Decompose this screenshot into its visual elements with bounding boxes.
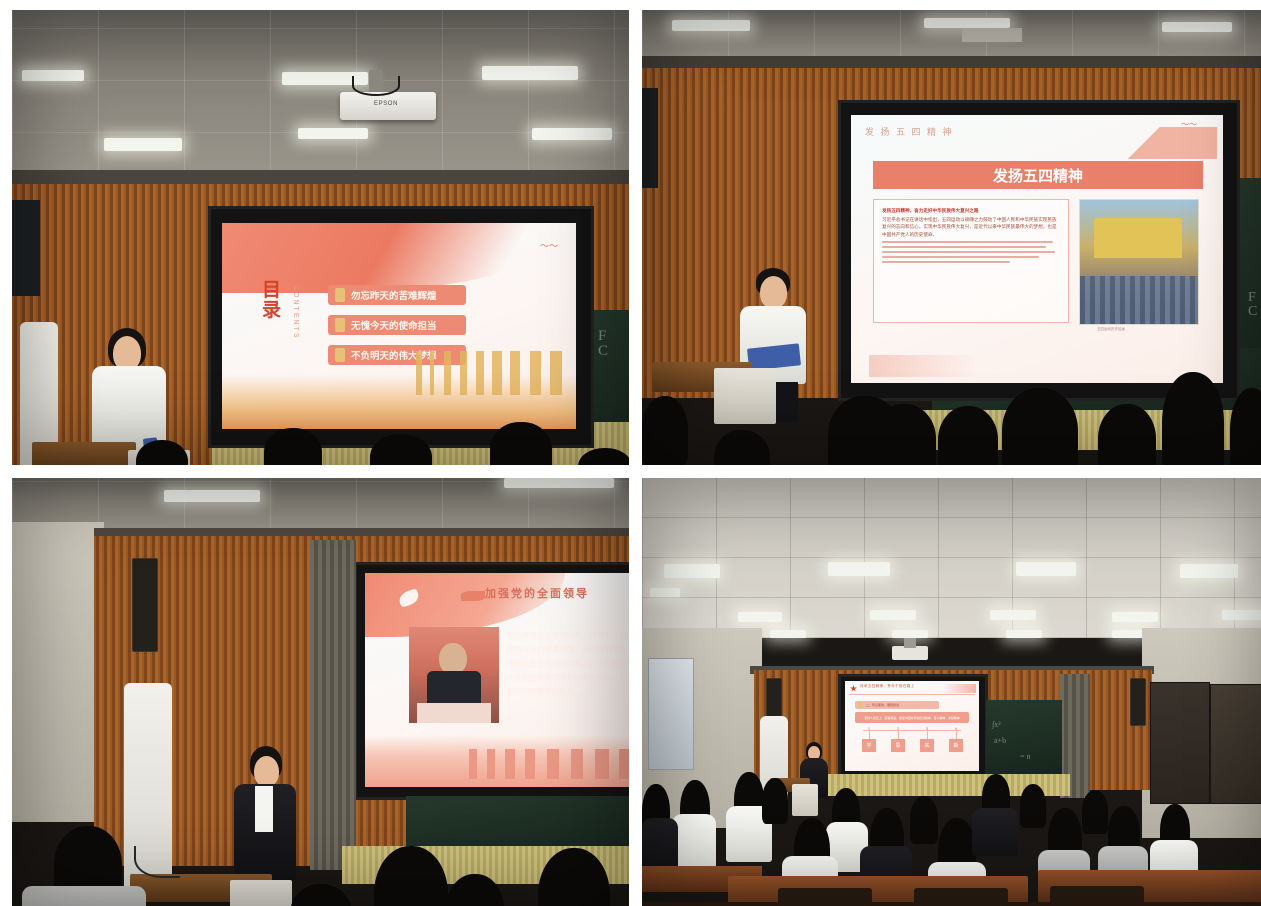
step-card: 实	[920, 739, 934, 752]
illustration-building	[1094, 218, 1182, 258]
wall-top-trim	[12, 170, 629, 184]
item-badge-icon	[335, 348, 345, 362]
slide-city-silhouette	[461, 749, 629, 779]
slide-header-rule	[849, 694, 975, 695]
slide-birds-icon: 〜〜	[1181, 119, 1197, 130]
slide-youth-mission: 传承五四精神，青年干部在路上 二、牢记使命，展现担当 坚持人民至上、实事求是，展…	[845, 681, 979, 771]
ceiling-light	[532, 128, 612, 140]
slide-party-leadership: 加强党的全面领导 党的领导方式更加科学，领导力、组织力号召力显著增强，始终成为中…	[365, 573, 629, 787]
ceiling-equipment-box	[962, 28, 1022, 42]
slide-title-text: 加强党的全面领导	[485, 585, 589, 601]
ceiling-light	[770, 630, 806, 638]
slide-body-paragraph: 习近平总书记在讲话中指出，五四运动以磅礴之力鼓动了中国人民和中华民族实现民族复兴…	[882, 216, 1060, 238]
ceiling-light	[482, 66, 578, 80]
chalk-writing: C	[598, 343, 608, 360]
step-label: 思	[895, 742, 900, 749]
slide-step[interactable]: 3 实	[919, 726, 935, 754]
audience-head	[1002, 388, 1078, 465]
step-card: 思	[891, 739, 905, 752]
portrait-podium	[417, 703, 491, 723]
projection-screen[interactable]: 加强党的全面领导 党的领导方式更加科学，领导力、组织力号召力显著增强，始终成为中…	[365, 573, 629, 787]
photo-panel-bottom-right[interactable]: Wide-angle view of full classroom with s…	[642, 478, 1261, 906]
ceiling-light	[104, 138, 182, 151]
projector-cable	[352, 76, 400, 96]
ceiling-light	[164, 490, 260, 502]
lectern[interactable]	[32, 442, 136, 465]
slide-step[interactable]: 2 思	[890, 726, 906, 754]
slide-menu-item[interactable]: 无愧今天的使命担当	[328, 315, 466, 335]
audience-body	[972, 808, 1018, 856]
slide-birds-icon: 〜〜	[540, 239, 558, 252]
lectern-computer-cabinet[interactable]	[714, 368, 776, 424]
audience-head	[1098, 404, 1156, 465]
slide-heading-en: CONTENTS	[288, 285, 299, 340]
ceiling-light	[990, 610, 1036, 620]
portrait-suit	[427, 671, 481, 705]
step-number: 3	[919, 726, 935, 731]
step-number: 1	[861, 726, 877, 731]
text-line	[882, 256, 1039, 258]
text-line	[882, 241, 1053, 243]
chair-back	[1050, 886, 1144, 904]
chair-back	[778, 888, 872, 906]
slide-mountain-decoration	[1087, 127, 1217, 159]
slide-banner: 坚持人民至上、实事求是，展现中国青年的担当精神、奋斗精神、奉献精神	[855, 712, 969, 723]
audience-head	[714, 430, 770, 465]
lectern-computer-cabinet[interactable]	[792, 784, 818, 816]
step-number: 2	[890, 726, 906, 731]
ceiling-light	[828, 562, 890, 576]
step-arrow-icon	[956, 731, 957, 739]
step-arrow-icon	[927, 731, 928, 739]
audience-head	[1020, 784, 1046, 828]
ceiling-light	[1222, 610, 1261, 620]
step-card: 学	[862, 739, 876, 752]
subtitle-badge-icon	[858, 702, 863, 708]
plaster-wall	[12, 522, 104, 822]
step-card: 新	[949, 739, 963, 752]
projector-brand-label: EPSON	[374, 101, 398, 107]
slide-title-bar: 发扬五四精神	[873, 161, 1203, 189]
slide-image-caption: 五四运动历史绘画	[1097, 327, 1125, 332]
audience-head	[1162, 372, 1224, 465]
door[interactable]	[1150, 682, 1210, 804]
photo-panel-bottom-left[interactable]: Female student in black blazer presentin…	[12, 478, 629, 906]
slide-heading-cn: 目录	[262, 281, 284, 321]
chalkboard: ∫x² a+b = n	[986, 700, 1062, 778]
projector-body: EPSON	[340, 92, 436, 120]
ceiling-light	[892, 630, 928, 638]
slide-step[interactable]: 4 新	[948, 726, 964, 754]
slide-contents: 〜〜 目录 CONTENTS 勿忘昨天的苦难辉煌 无愧今天的使命担当 不负明天的…	[222, 223, 576, 429]
slide-illustration	[1079, 199, 1199, 325]
step-connector-line	[863, 730, 961, 731]
slide-title-ribbon	[461, 591, 485, 601]
projection-screen[interactable]: 发 扬 五 四 精 神 〜〜 发扬五四精神 发扬五四精神，奋力走好中华民族伟大复…	[851, 115, 1223, 383]
slide-body-lead: 发扬五四精神，奋力走好中华民族伟大复兴之路	[882, 207, 1060, 214]
ceiling-tile-grid	[12, 10, 629, 185]
step-arrow-icon	[869, 731, 870, 739]
ceiling-light	[298, 128, 368, 139]
audience-body	[22, 886, 146, 906]
step-number: 4	[948, 726, 964, 731]
text-line	[882, 251, 1055, 253]
step-label: 学	[866, 742, 871, 749]
chalk-writing: ∫x²	[992, 720, 1001, 729]
slide-portrait-photo	[409, 627, 499, 723]
slide-menu-item[interactable]: 勿忘昨天的苦难辉煌	[328, 285, 466, 305]
item-badge-icon	[335, 318, 345, 332]
step-label: 新	[953, 742, 958, 749]
ceiling-tile-grid	[642, 478, 1261, 638]
projector-mount	[904, 638, 916, 648]
audience-head	[1082, 790, 1108, 834]
step-arrow-icon	[898, 731, 899, 739]
photo-panel-top-left[interactable]: Female student presenting at lectern, co…	[12, 10, 629, 465]
ceiling-light	[1006, 630, 1042, 638]
step-label: 实	[924, 742, 929, 749]
ceiling-light	[1180, 564, 1238, 578]
projection-board-frame[interactable]: 传承五四精神，青年干部在路上 二、牢记使命，展现担当 坚持人民至上、实事求是，展…	[838, 674, 988, 780]
projection-screen[interactable]: 传承五四精神，青年干部在路上 二、牢记使命，展现担当 坚持人民至上、实事求是，展…	[845, 681, 979, 771]
window-left	[648, 658, 694, 770]
ceiling-light	[738, 612, 782, 622]
slide-footer-decoration	[869, 355, 979, 377]
slide-body-text-block: 发扬五四精神，奋力走好中华民族伟大复兴之路 习近平总书记在讲话中指出，五四运动以…	[873, 199, 1069, 323]
audience-body	[642, 818, 678, 870]
audience-head	[762, 778, 788, 824]
ceiling	[12, 10, 629, 185]
slide-title-text: 发扬五四精神	[993, 165, 1083, 186]
slide-subtitle-text: 二、牢记使命，展现担当	[866, 703, 899, 707]
window-dark	[642, 88, 658, 188]
illustration-crowd	[1080, 276, 1198, 324]
presenter-head	[254, 756, 279, 787]
window-dark	[12, 200, 40, 296]
window-curtain	[310, 540, 356, 870]
chalk-writing: C	[1248, 304, 1257, 320]
ceiling-light	[22, 70, 84, 81]
audience-head	[490, 422, 552, 465]
projection-board-frame[interactable]: 发 扬 五 四 精 神 〜〜 发扬五四精神 发扬五四精神，奋力走好中华民族伟大复…	[838, 100, 1240, 401]
ceiling-light	[504, 478, 614, 488]
slide-menu-item-label: 无愧今天的使命担当	[351, 318, 437, 332]
slide-header-text: 传承五四精神，青年干部在路上	[860, 684, 915, 689]
presenter-head	[760, 276, 787, 309]
item-badge-icon	[335, 288, 345, 302]
ceiling	[642, 478, 1261, 638]
slide-menu-item-label: 勿忘昨天的苦难辉煌	[351, 288, 437, 302]
audience-head	[642, 396, 688, 465]
slide-subtitle-bar: 二、牢记使命，展现担当	[855, 701, 939, 709]
ceiling-light	[1016, 562, 1076, 576]
slide-banner-text: 坚持人民至上、实事求是，展现中国青年的担当精神、奋斗精神、奉献精神	[864, 716, 959, 720]
ceiling-light	[1162, 22, 1232, 32]
party-emblem-icon	[850, 685, 857, 692]
ceiling-light	[664, 564, 720, 578]
text-line	[882, 246, 1046, 248]
slide-may-fourth-spirit: 发 扬 五 四 精 神 〜〜 发扬五四精神 发扬五四精神，奋力走好中华民族伟大复…	[851, 115, 1223, 383]
projection-board-frame[interactable]: 加强党的全面领导 党的领导方式更加科学，领导力、组织力号召力显著增强，始终成为中…	[354, 562, 629, 800]
audience-head	[938, 406, 998, 465]
projection-screen[interactable]: 〜〜 目录 CONTENTS 勿忘昨天的苦难辉煌 无愧今天的使命担当 不负明天的…	[222, 223, 576, 429]
slide-step[interactable]: 1 学	[861, 726, 877, 754]
slide-city-silhouette	[410, 351, 570, 395]
slide-watermark-title: 发 扬 五 四 精 神	[865, 125, 954, 138]
slide-body-paragraph: 党的领导方式更加科学，领导力、组织力号召力显著增强，始终成为中国特色社会主义的领…	[507, 629, 629, 723]
audience-head	[872, 404, 936, 465]
photo-panel-top-right[interactable]: Male student reading from blue folder, M…	[642, 10, 1261, 465]
lectern-computer-cabinet[interactable]	[230, 880, 292, 906]
audience-head	[910, 796, 938, 844]
chalk-writing: = n	[1020, 752, 1031, 761]
ceiling-light	[924, 18, 1010, 28]
projection-board-frame[interactable]: 〜〜 目录 CONTENTS 勿忘昨天的苦难辉煌 无愧今天的使命担当 不负明天的…	[208, 206, 594, 448]
chair-back	[914, 888, 1008, 906]
ceiling-light	[1112, 612, 1158, 622]
text-line	[882, 261, 1010, 263]
ceiling-light	[650, 588, 680, 597]
wall-speaker	[1130, 678, 1146, 726]
ceiling-light	[870, 610, 916, 620]
chalk-writing: a+b	[994, 736, 1006, 745]
slide-topright-decoration	[942, 684, 976, 693]
presenter-shirt-collar	[255, 786, 273, 832]
photo-collage: Female student presenting at lectern, co…	[0, 0, 1261, 906]
wall-speaker	[132, 558, 158, 652]
door[interactable]	[1210, 684, 1261, 804]
audience-body	[672, 814, 716, 868]
projector-body	[892, 646, 928, 660]
ceiling-light	[672, 20, 750, 31]
